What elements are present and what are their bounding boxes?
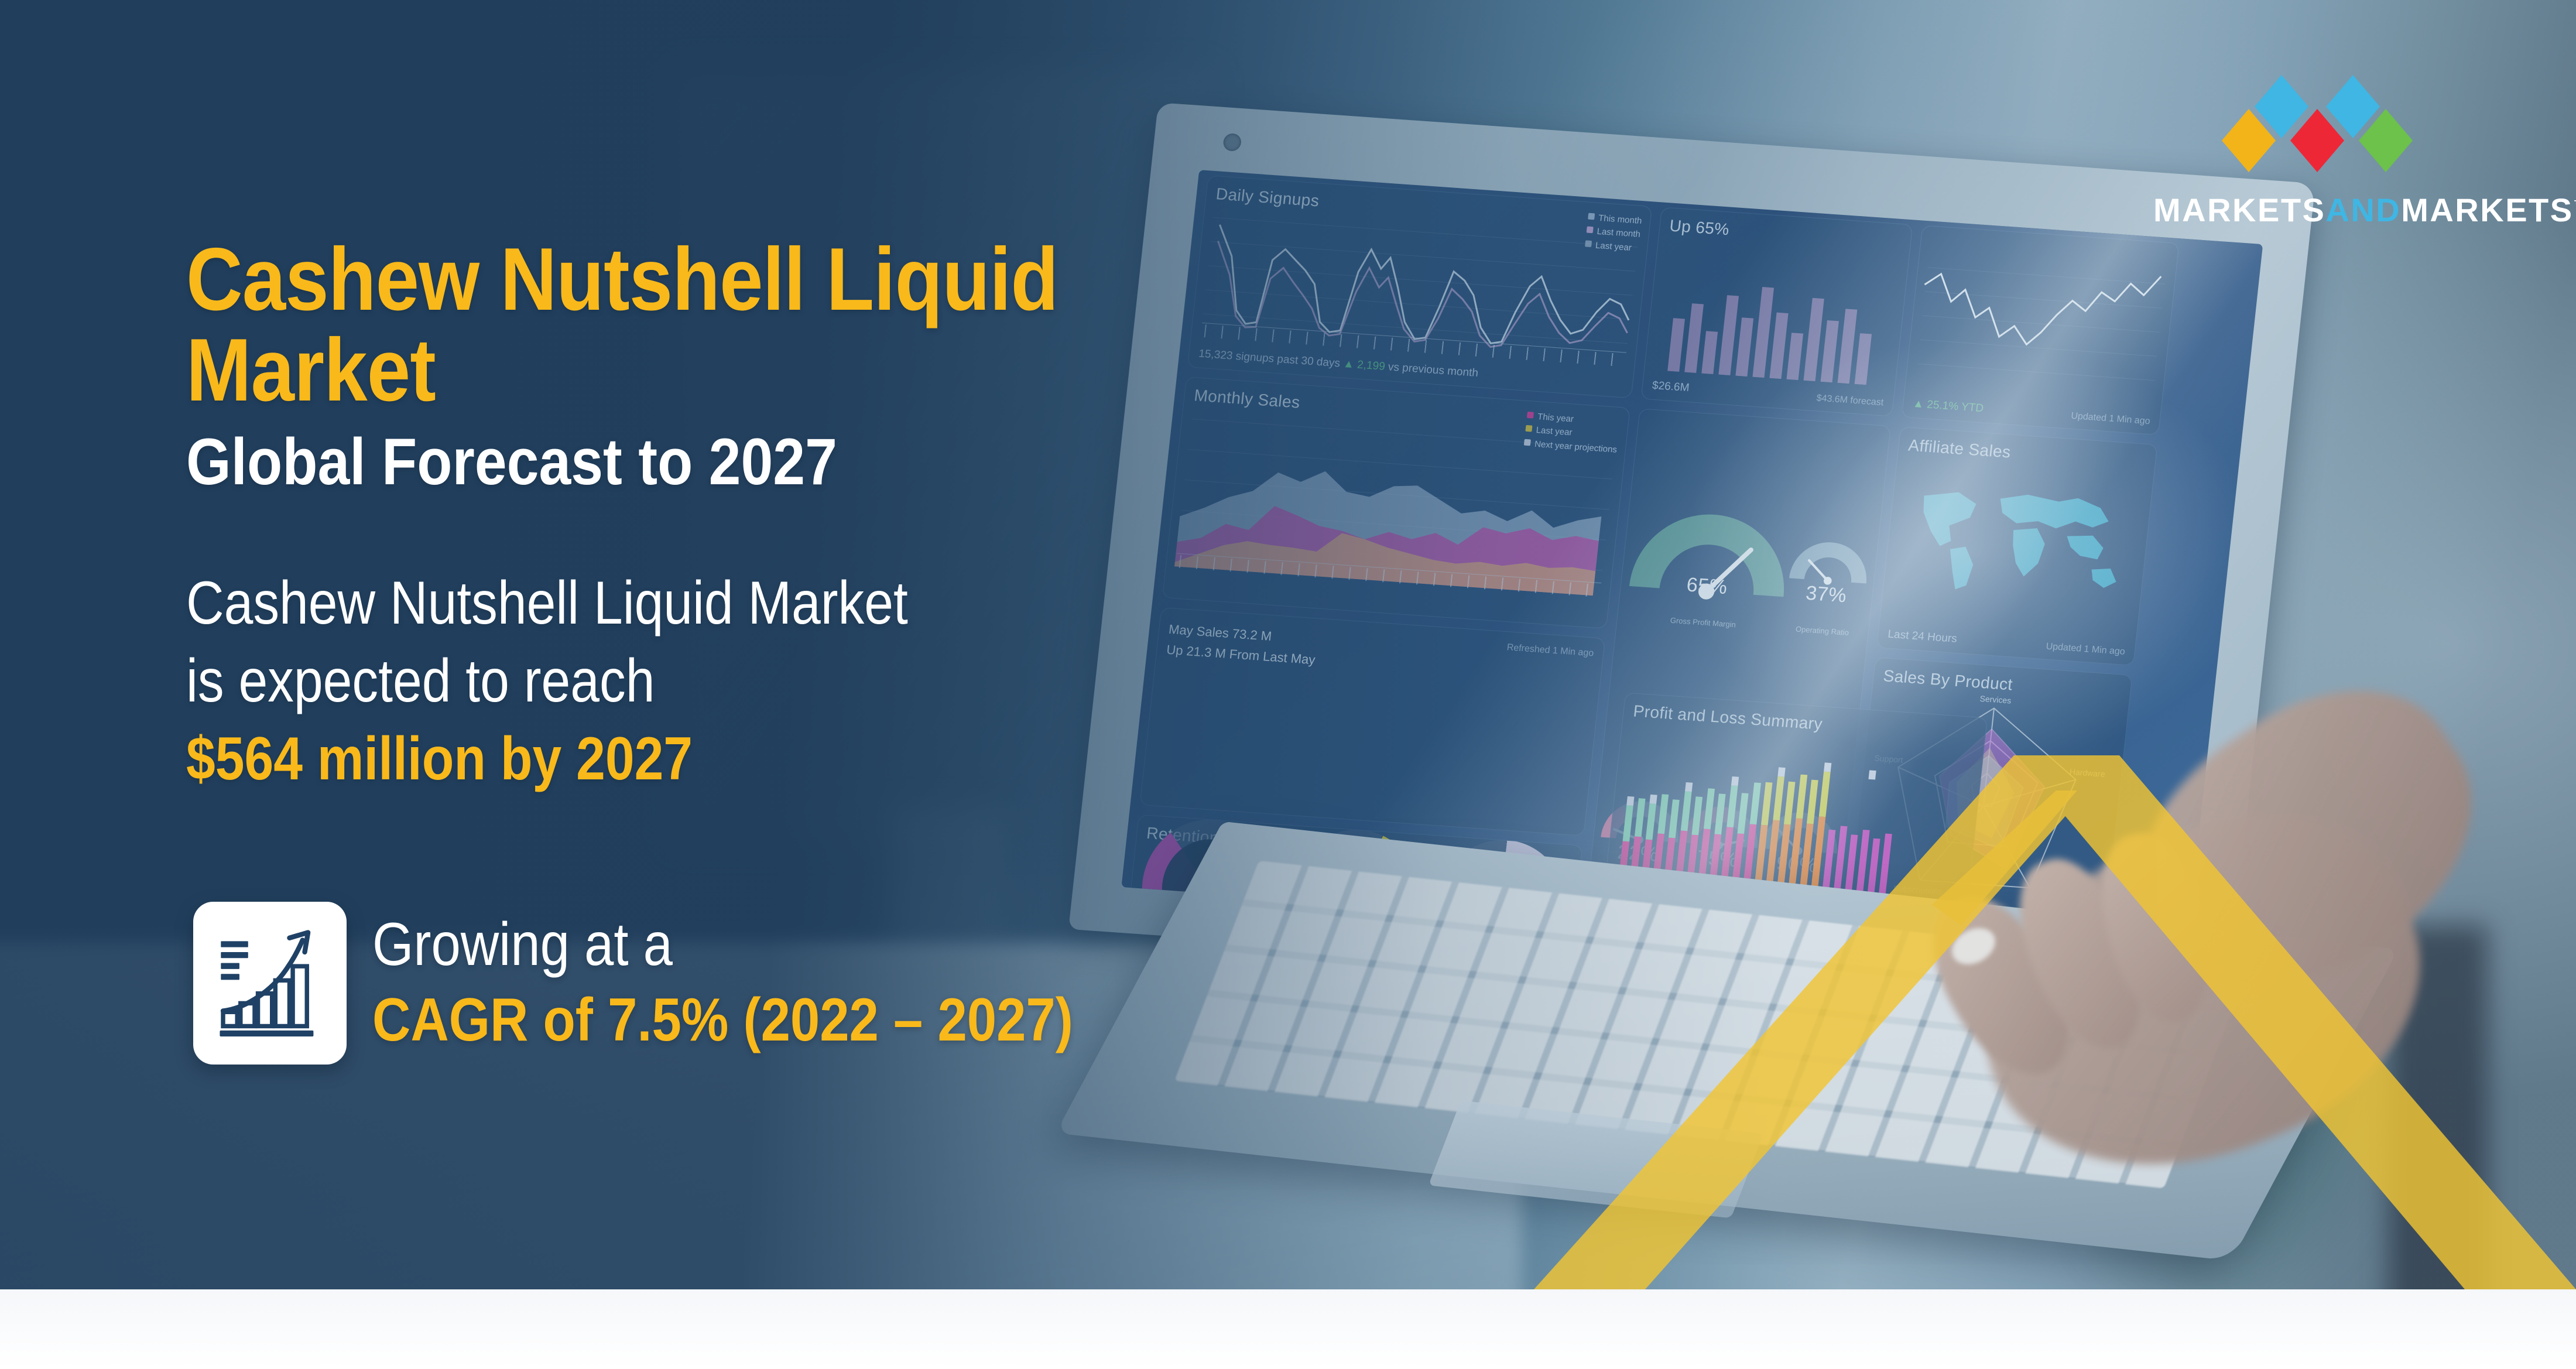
logo-word-and: AND <box>2325 191 2401 228</box>
logo-trademark: ™ <box>2574 197 2576 213</box>
growth-bar-chart-icon <box>193 902 347 1065</box>
page-title-line2: Market <box>186 325 1093 416</box>
cagr-line-2: CAGR of 7.5% (2022 – 2027) <box>372 985 1073 1056</box>
market-value-highlight: $564 million by 2027 <box>186 720 1073 798</box>
body-line-1: Cashew Nutshell Liquid Market <box>186 564 1073 642</box>
logo-wordmark: MARKETSANDMARKETS™ <box>2153 191 2481 229</box>
body-copy: Cashew Nutshell Liquid Market is expecte… <box>186 564 1073 798</box>
page-subtitle: Global Forecast to 2027 <box>186 424 1093 500</box>
logo-word-markets2: MARKETS <box>2401 191 2573 228</box>
page-title-line1: Cashew Nutshell Liquid <box>186 234 1093 325</box>
cagr-line-1: Growing at a <box>372 911 1073 978</box>
logo-diamonds-icon <box>2221 70 2414 182</box>
brand-logo[interactable]: MARKETSANDMARKETS™ <box>2153 70 2481 229</box>
growth-bar-chart-glyph <box>215 926 324 1041</box>
market-forecast-banner: Daily Signups This month Last month Last… <box>0 0 2576 1369</box>
cagr-block: Growing at a CAGR of 7.5% (2022 – 2027) <box>193 902 1178 1065</box>
bottom-white-band <box>0 1289 2576 1369</box>
logo-word-markets1: MARKETS <box>2153 191 2325 228</box>
body-line-2: is expected to reach <box>186 642 1073 720</box>
cagr-text: Growing at a CAGR of 7.5% (2022 – 2027) <box>372 911 1073 1055</box>
headline-block: Cashew Nutshell Liquid Market Global For… <box>186 234 1217 798</box>
